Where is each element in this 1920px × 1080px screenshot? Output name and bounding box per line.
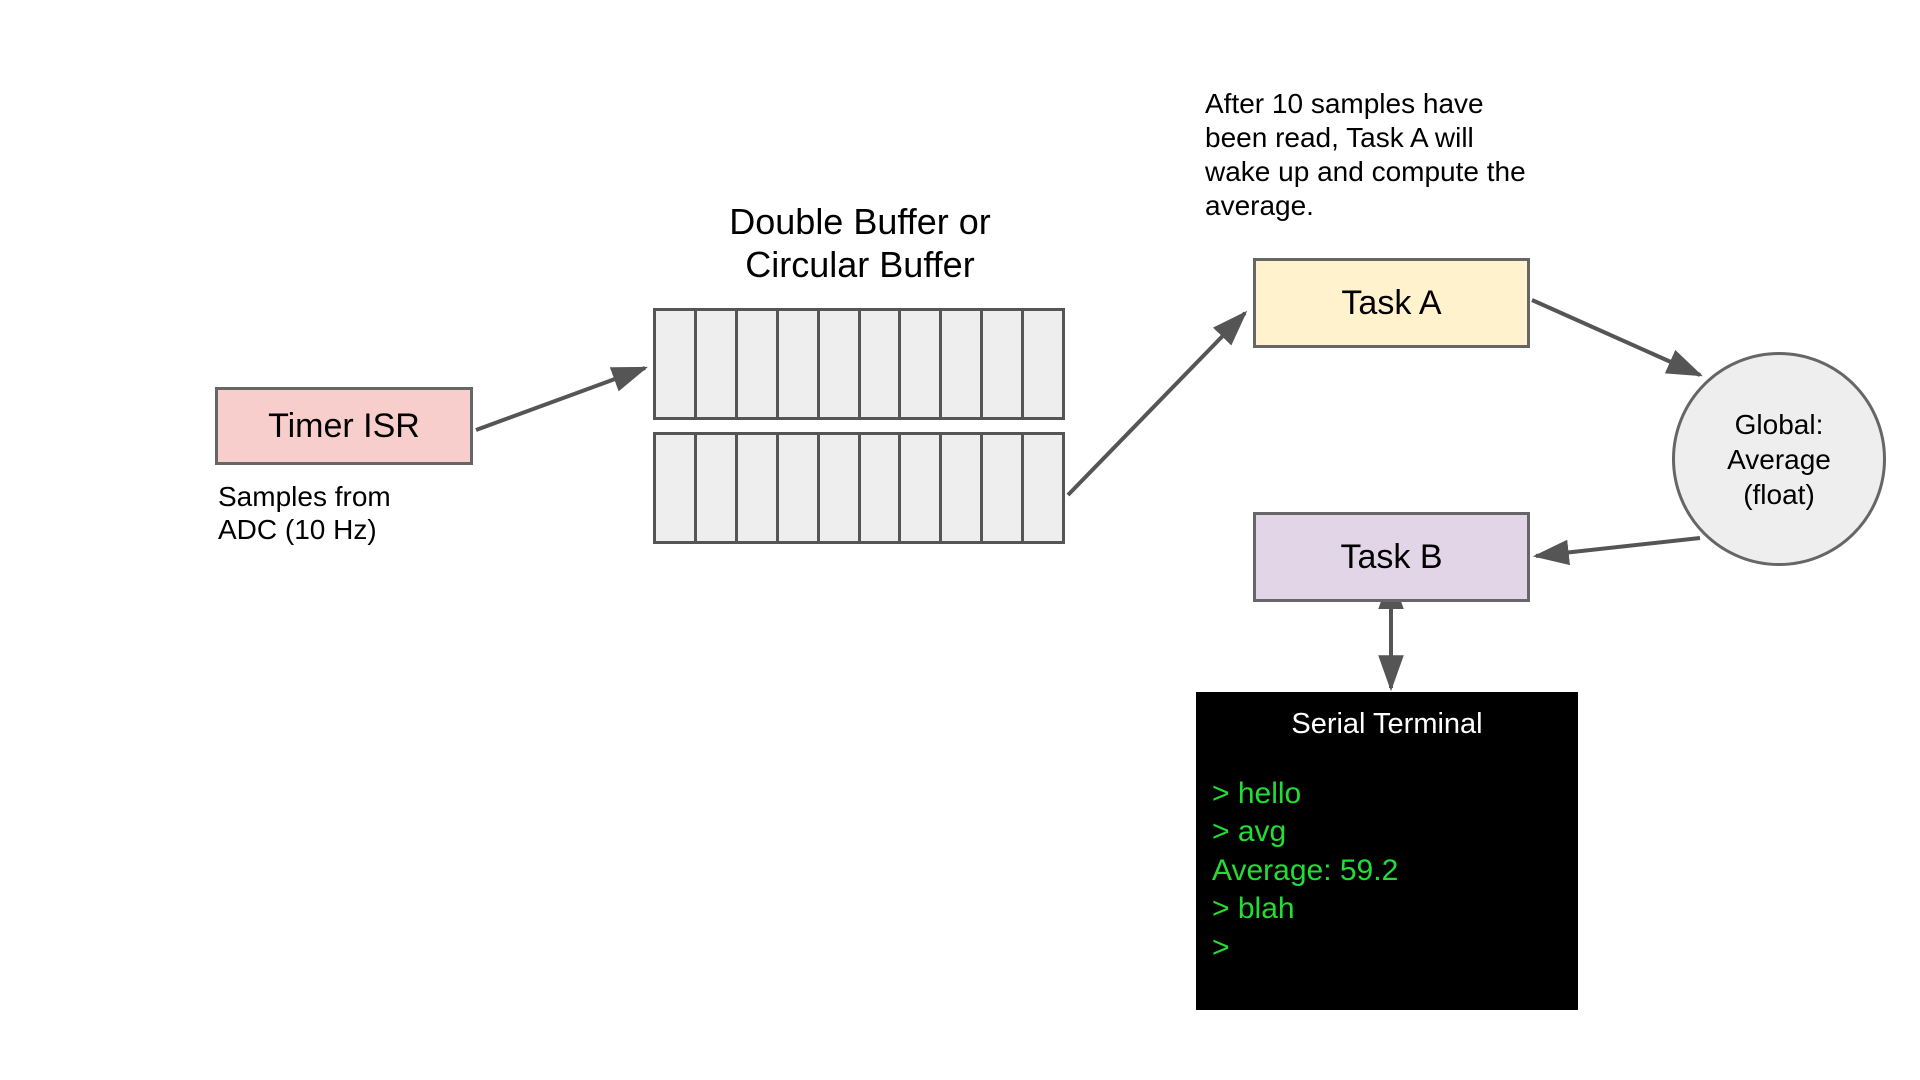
buffer-cell [738,311,779,417]
timer-isr-caption: Samples from ADC (10 Hz) [218,480,518,546]
serial-terminal-title: Serial Terminal [1196,692,1578,741]
node-task-b[interactable]: Task B [1253,512,1530,602]
node-task-b-label: Task B [1340,540,1442,574]
buffer-cell [901,435,942,541]
buffer-row-top [653,308,1065,420]
buffer-cell [942,435,983,541]
edge-isr-to-buffer [476,368,645,430]
buffer-cell [738,435,779,541]
terminal-line: > [1212,929,1578,967]
edge-global-to-task-b [1536,538,1700,556]
terminal-line: Average: 59.2 [1212,852,1578,890]
serial-terminal-window[interactable]: Serial Terminal > hello > avg Average: 5… [1196,692,1578,1010]
buffer-cell [697,311,738,417]
buffer-row-bottom [653,432,1065,544]
buffer-cell [779,435,820,541]
terminal-line: > avg [1212,813,1578,851]
buffer-cell [1024,435,1062,541]
buffer-cell [983,435,1024,541]
terminal-line: > hello [1212,775,1578,813]
edge-task-a-to-global [1532,300,1700,375]
buffer-cell [697,435,738,541]
node-task-a[interactable]: Task A [1253,258,1530,348]
node-task-a-label: Task A [1341,286,1441,320]
node-global-average-label: Global: Average (float) [1727,407,1831,512]
buffer-cell [820,311,861,417]
buffer-cell [1024,311,1062,417]
buffer-cell [861,435,902,541]
node-global-average[interactable]: Global: Average (float) [1672,352,1886,566]
node-timer-isr-label: Timer ISR [268,409,420,443]
buffer-cell [983,311,1024,417]
buffer-cell [779,311,820,417]
buffer-cell [656,311,697,417]
buffer-title: Double Buffer or Circular Buffer [660,200,1060,286]
buffer-cell [861,311,902,417]
serial-terminal-output: > hello > avg Average: 59.2 > blah > [1196,775,1578,967]
buffer-cell [942,311,983,417]
buffer-cell [901,311,942,417]
edge-buffer-to-task-a [1068,313,1245,495]
task-a-annotation: After 10 samples have been read, Task A … [1205,87,1535,224]
node-timer-isr[interactable]: Timer ISR [215,387,473,465]
buffer-cell [820,435,861,541]
diagram-canvas: Timer ISR Samples from ADC (10 Hz) Doubl… [0,0,1920,1080]
terminal-line: > blah [1212,890,1578,928]
buffer-cell [656,435,697,541]
